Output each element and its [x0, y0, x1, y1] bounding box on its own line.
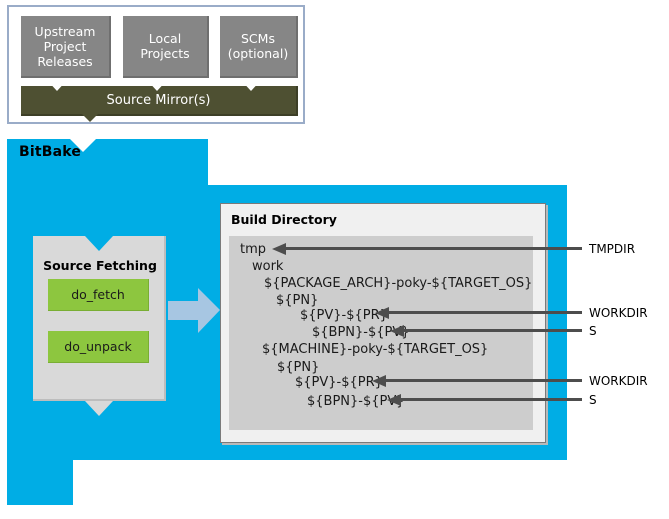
variable-label-tmpdir: TMPDIR — [589, 242, 635, 256]
arrow-shaft — [402, 329, 582, 332]
arrow-s-2 — [387, 394, 582, 406]
task-box-do-fetch[interactable]: do_fetch — [48, 279, 149, 311]
source-box-local-projects: Local Projects — [123, 16, 209, 78]
chevron-down-icon-source-fetching-out — [85, 401, 113, 416]
arrow-workdir-1 — [375, 307, 582, 319]
source-fetching-title: Source Fetching — [41, 258, 159, 273]
arrow-shaft — [387, 311, 582, 314]
arrow-workdir-2 — [372, 375, 582, 387]
tree-item-pn-2: ${PN} — [277, 360, 319, 376]
source-box-upstream-project-releases: Upstream Project Releases — [21, 16, 111, 78]
tree-item-pn-1: ${PN} — [276, 293, 318, 309]
chevron-down-icon-mirror-output — [77, 109, 103, 122]
tree-item-pv-pr-2: ${PV}-${PR} — [295, 375, 383, 391]
bitbake-label: BitBake — [19, 144, 81, 160]
variable-label-workdir-2: WORKDIR — [589, 374, 648, 388]
tree-item-machine: ${MACHINE}-poky-${TARGET_OS} — [262, 342, 488, 358]
arrow-shaft — [399, 398, 582, 401]
chevron-down-icon-upstream — [46, 79, 68, 91]
arrow-tmpdir — [272, 243, 582, 255]
source-container: Upstream Project Releases Local Projects… — [7, 5, 305, 124]
source-box-label: Local Projects — [140, 31, 189, 61]
diagram-canvas: Upstream Project Releases Local Projects… — [0, 0, 669, 519]
variable-label-s-2: S — [589, 393, 597, 407]
variable-label-s-1: S — [589, 324, 597, 338]
task-label: do_unpack — [64, 339, 131, 354]
tree-item-tmp: tmp — [240, 242, 266, 258]
arrow-shaft — [384, 379, 582, 382]
build-directory-title: Build Directory — [231, 212, 337, 227]
chevron-down-icon-scms — [240, 79, 262, 91]
chevron-down-icon-source-fetching-in — [85, 236, 113, 251]
source-box-scms-optional: SCMs (optional) — [220, 16, 298, 78]
tree-item-package-arch: ${PACKAGE_ARCH}-poky-${TARGET_OS} — [264, 276, 532, 292]
source-mirrors-label: Source Mirror(s) — [107, 93, 211, 108]
arrow-shaft — [284, 247, 582, 250]
task-label: do_fetch — [71, 287, 125, 302]
arrow-s-1 — [390, 325, 582, 337]
source-box-label: Upstream Project Releases — [35, 24, 96, 69]
chevron-down-icon-local — [146, 79, 168, 91]
tree-item-work: work — [252, 259, 283, 275]
task-box-do-unpack[interactable]: do_unpack — [48, 331, 149, 363]
variable-label-workdir-1: WORKDIR — [589, 306, 648, 320]
source-box-label: SCMs (optional) — [228, 31, 288, 61]
